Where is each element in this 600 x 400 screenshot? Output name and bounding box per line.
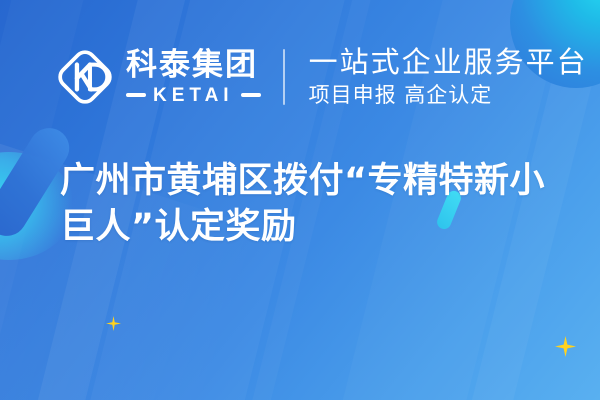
brand-name-cn: 科泰集团 (126, 50, 261, 81)
brand-rule-right (241, 93, 261, 97)
sparkle-star-small-icon (106, 316, 121, 331)
brand-wordmark: 科泰集团 KETAI (126, 50, 261, 105)
promo-banner: 科泰集团 KETAI 一站式企业服务平台 项目申报 高企认定 广州市黄埔区拨付“… (0, 0, 600, 400)
sparkle-star-large-icon (555, 336, 576, 357)
brand-name-en: KETAI (153, 86, 234, 105)
brand-name-en-row: KETAI (126, 86, 261, 105)
tagline-main: 一站式企业服务平台 (309, 46, 588, 78)
ketai-diamond-kd-logo-icon (54, 46, 116, 108)
banner-title: 广州市黄埔区拨付“专精特新小巨人”认定奖励 (60, 158, 570, 250)
tagline-sub: 项目申报 高企认定 (309, 83, 588, 108)
banner-header: 科泰集团 KETAI 一站式企业服务平台 项目申报 高企认定 (0, 34, 600, 120)
tagline-block: 一站式企业服务平台 项目申报 高企认定 (309, 46, 588, 109)
brand-lockup: 科泰集团 KETAI (54, 46, 261, 108)
brand-rule-left (126, 93, 146, 97)
header-divider (283, 49, 285, 105)
